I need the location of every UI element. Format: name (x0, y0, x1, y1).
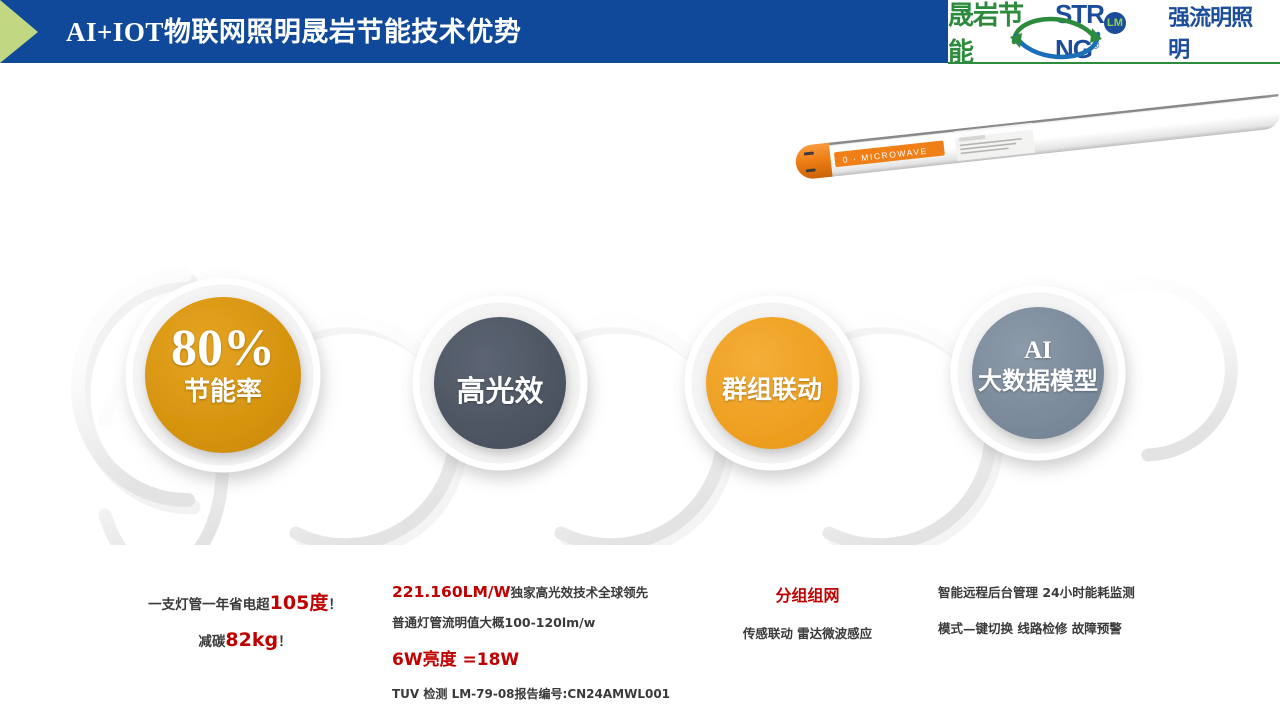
caption-2-row-3: 6W亮度 =18W (392, 645, 712, 670)
caption-3-row-2: 传感联动 雷达微波感应 (700, 623, 915, 642)
caption-column-2: 221.160LM/W独家高光效技术全球领先 普通灯管流明值大概100-120l… (392, 582, 712, 702)
caption-3-row-1: 分组组网 (700, 582, 915, 606)
caption-1-line-1: 一支灯管一年省电超105度！ (95, 588, 395, 615)
slide-header: AI+IOT物联网照明晟岩节能技术优势 晟岩节能 ST (0, 0, 1280, 64)
node-4-disc[interactable] (972, 307, 1104, 439)
logo-brand-cn2: 强流明照明 (1168, 0, 1272, 64)
caption-1-line-1-post: ！ (328, 597, 342, 613)
caption-2-lmw-value: 221.160LM/W (392, 583, 511, 601)
caption-column-3: 分组组网 传感联动 雷达微波感应 (700, 582, 915, 642)
caption-1-line-1-pre: 一支灯管一年省电超 (148, 597, 270, 613)
node-1-disc[interactable] (145, 297, 301, 453)
logo-brand-cn: 晟岩节能 (948, 0, 1047, 69)
caption-2-row-4: TUV 检测 LM-79-08报告编号:CN24AMWL001 (392, 685, 712, 702)
led-tube-photo: 0 · MICROWAVE (760, 72, 1280, 202)
chain-ring-diagram (0, 215, 1280, 545)
caption-1-line-1-num: 105度 (270, 592, 329, 614)
caption-column-1: 一支灯管一年省电超105度！ 减碳82kg！ (95, 588, 395, 651)
caption-column-4: 智能远程后台管理 24小时能耗监测 模式—键切换 线路检修 故障预警 (938, 582, 1238, 637)
caption-4-row-2: 模式—键切换 线路检修 故障预警 (938, 618, 1238, 637)
caption-4-row-1: 智能远程后台管理 24小时能耗监测 (938, 582, 1238, 601)
header-green-arrow-icon (0, 0, 38, 63)
brand-logo: 晟岩节能 STRLMNG® 强流明照明 (948, 0, 1280, 63)
page-title: AI+IOT物联网照明晟岩节能技术优势 (66, 14, 521, 50)
caption-2-row-2: 普通灯管流明值大概100-120lm/w (392, 612, 712, 631)
caption-1-line-2-post: ！ (278, 634, 292, 650)
slide-root: AI+IOT物联网照明晟岩节能技术优势 晟岩节能 ST (0, 0, 1280, 720)
caption-2-row-1: 221.160LM/W独家高光效技术全球领先 (392, 582, 712, 601)
caption-1-line-2-pre: 减碳 (198, 634, 225, 650)
caption-1-line-2-num: 82kg (225, 629, 278, 651)
caption-1-line-2: 减碳82kg！ (95, 629, 395, 651)
node-2-disc[interactable] (434, 317, 566, 449)
caption-2-lmw-text: 独家高光效技术全球领先 (511, 585, 649, 600)
node-3-disc[interactable] (706, 317, 838, 449)
logo-lm-badge: LM (1104, 12, 1126, 34)
